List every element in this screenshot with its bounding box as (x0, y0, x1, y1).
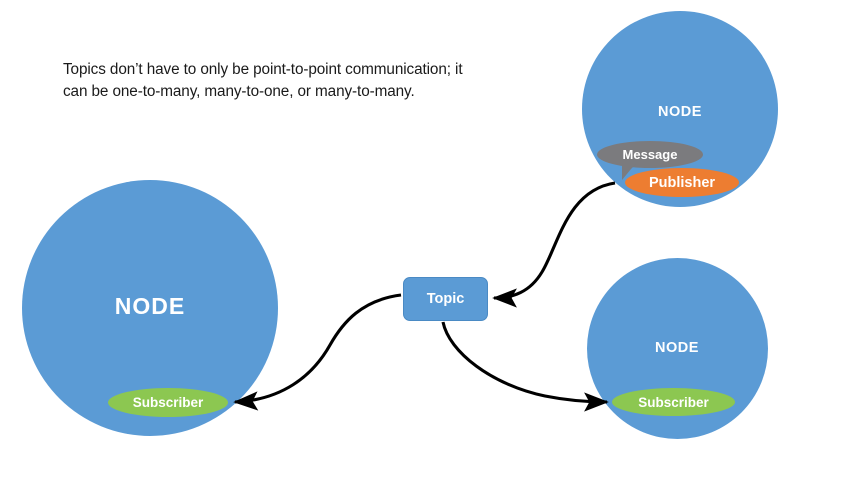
arrow-publisher-to-topic (494, 183, 615, 298)
slide-canvas: Topics don’t have to only be point-to-po… (0, 0, 854, 480)
connection-arrows (0, 0, 854, 480)
arrow-topic-to-subscriber-bottom-right (443, 322, 607, 402)
arrow-topic-to-subscriber-left (235, 295, 401, 402)
